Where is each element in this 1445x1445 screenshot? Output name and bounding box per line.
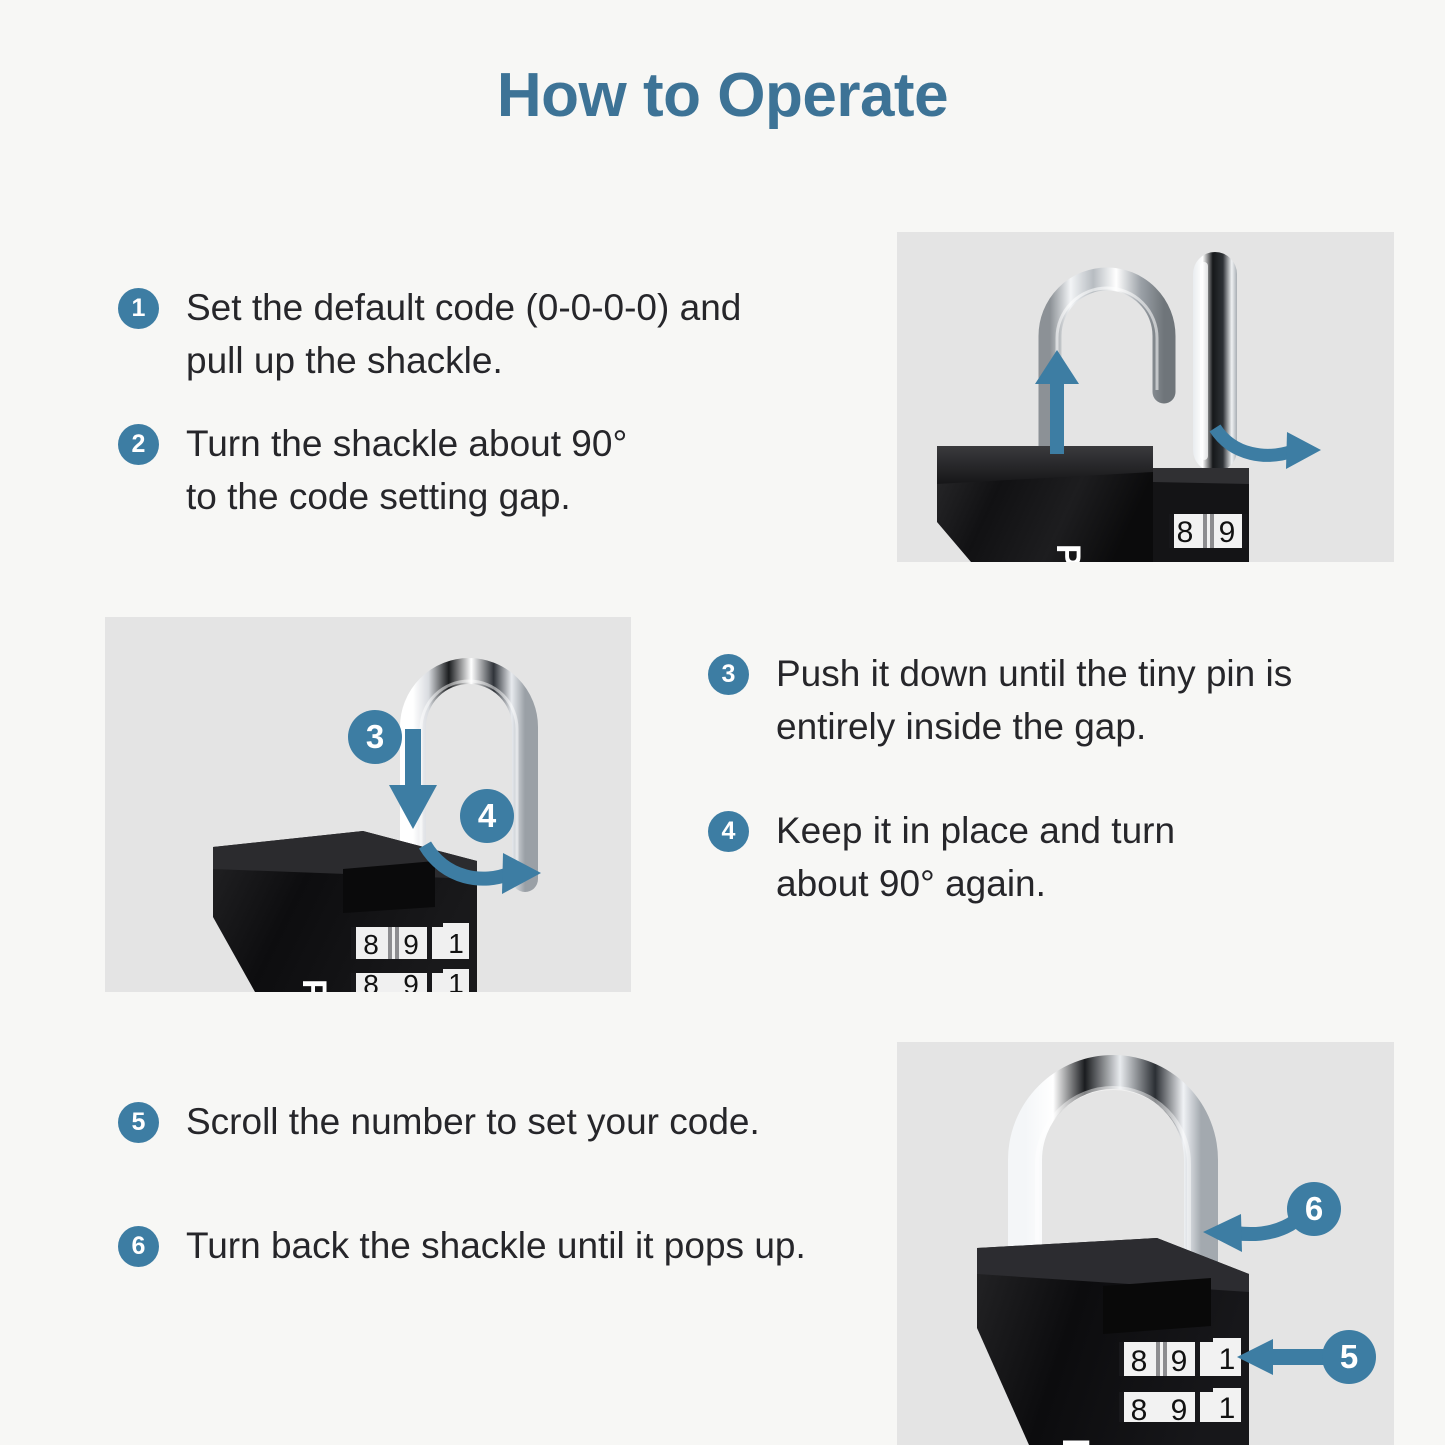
photo-panel-step-5-6: Pura 8 9 1 8 9 1 (897, 1042, 1394, 1445)
svg-text:8: 8 (363, 929, 379, 960)
padlock-illustration-1: Pu 8 9 (897, 232, 1394, 562)
callout-badge-6: 6 (1287, 1182, 1341, 1236)
step-item-3: 3 Push it down until the tiny pin is ent… (708, 648, 1408, 753)
svg-text:9: 9 (1171, 1394, 1188, 1427)
svg-text:1: 1 (448, 928, 464, 959)
lock-brand-text: Pu (1049, 544, 1087, 562)
step-number-badge-3: 3 (708, 654, 749, 695)
padlock-illustration-2: Pu 8 9 1 8 9 1 (105, 617, 631, 992)
photo-panel-step-3-4: Pu 8 9 1 8 9 1 (105, 617, 631, 992)
svg-text:8: 8 (1131, 1394, 1148, 1427)
svg-text:8: 8 (1131, 1345, 1148, 1378)
svg-text:9: 9 (403, 969, 419, 992)
page-title: How to Operate (0, 62, 1445, 130)
lock-brand-text: Pu (295, 979, 333, 992)
padlock-illustration-3: Pura 8 9 1 8 9 1 (897, 1042, 1394, 1445)
lock-brand-text: Pura (1054, 1438, 1096, 1445)
step-text-4: Keep it in place and turn about 90° agai… (776, 805, 1175, 910)
step-number-badge-1: 1 (118, 288, 159, 329)
step-number-badge-5: 5 (118, 1102, 159, 1143)
step-item-4: 4 Keep it in place and turn about 90° ag… (708, 805, 1408, 910)
step-item-5: 5 Scroll the number to set your code. (118, 1096, 908, 1149)
step-text-6: Turn back the shackle until it pops up. (186, 1220, 806, 1273)
step-text-5: Scroll the number to set your code. (186, 1096, 760, 1149)
dial-window-2: 8 9 1 8 9 1 (351, 923, 469, 992)
step-number-badge-2: 2 (118, 424, 159, 465)
step-text-3: Push it down until the tiny pin is entir… (776, 648, 1292, 753)
callout-badge-4: 4 (460, 789, 514, 843)
step-item-6: 6 Turn back the shackle until it pops up… (118, 1220, 908, 1273)
svg-text:1: 1 (448, 968, 464, 992)
svg-text:1: 1 (1219, 1392, 1236, 1425)
step-number-badge-6: 6 (118, 1226, 159, 1267)
step-item-2: 2 Turn the shackle about 90° to the code… (118, 418, 878, 523)
svg-text:8: 8 (363, 969, 379, 992)
callout-badge-5: 5 (1322, 1330, 1376, 1384)
svg-text:9: 9 (403, 929, 419, 960)
svg-text:9: 9 (1219, 516, 1236, 549)
step-text-2: Turn the shackle about 90° to the code s… (186, 418, 627, 523)
svg-text:9: 9 (1171, 1345, 1188, 1378)
callout-badge-3: 3 (348, 710, 402, 764)
photo-panel-step-1-2: Pu 8 9 1 2 (897, 232, 1394, 562)
dial-window-1: 8 9 (1169, 514, 1247, 549)
step-number-badge-4: 4 (708, 811, 749, 852)
svg-text:8: 8 (1177, 516, 1194, 549)
step-text-1: Set the default code (0-0-0-0) and pull … (186, 282, 741, 387)
step-item-1: 1 Set the default code (0-0-0-0) and pul… (118, 282, 878, 387)
svg-text:1: 1 (1219, 1343, 1236, 1376)
